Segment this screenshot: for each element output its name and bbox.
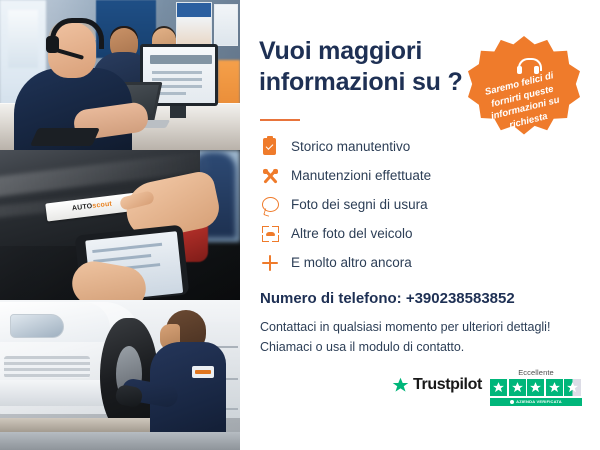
uniform-logo-badge (192, 366, 214, 378)
headset-earcup-left (517, 66, 522, 74)
star-rating (490, 379, 582, 396)
list-item[interactable]: Altre foto del veicolo (260, 219, 580, 248)
page-title: Vuoi maggiori informazioni su ? (259, 36, 479, 98)
sticker-brandmark: AUTOscout (72, 201, 113, 213)
contact-line-one: Contattaci in qualsiasi momento per ulte… (260, 317, 580, 337)
desk-tablet (30, 128, 100, 146)
list-item[interactable]: Manutenzioni effettuate (260, 161, 580, 190)
photo-frame-car-icon (260, 223, 286, 245)
contact-instructions: Contattaci in qualsiasi momento per ulte… (260, 317, 580, 357)
wall-poster-secondary (214, 4, 238, 46)
star-tile (546, 379, 563, 396)
feature-label: E molto altro ancora (286, 255, 412, 270)
photo-column: AUTOscout (0, 0, 240, 450)
trustpilot-rating: Eccellente (490, 368, 582, 406)
wall-poster (176, 2, 212, 50)
feature-label: Storico manutentivo (286, 139, 410, 154)
trustpilot-star-icon (392, 377, 409, 394)
clipboard-check-icon (260, 136, 286, 158)
phone-number[interactable]: Numero di telefono: +390238583852 (260, 290, 515, 307)
star-tile (490, 379, 507, 396)
crossed-tools-icon (260, 165, 286, 187)
garage-floor (0, 432, 240, 450)
list-item[interactable]: Foto dei segni di usura (260, 190, 580, 219)
trustpilot-logo: Trustpilot (392, 376, 482, 394)
monitor-stand (170, 106, 186, 118)
verified-check-icon (510, 400, 514, 404)
list-item[interactable]: Storico manutentivo (260, 132, 580, 161)
rating-label: Eccellente (490, 368, 582, 377)
trustpilot-wordmark: Trustpilot (413, 376, 482, 394)
star-tile-half (564, 379, 581, 396)
plus-icon (260, 252, 286, 274)
title-divider (260, 119, 300, 121)
list-item[interactable]: E molto altro ancora (260, 248, 580, 277)
car-grille (4, 356, 90, 378)
feature-label: Altre foto del veicolo (286, 226, 413, 241)
contact-line-two: Chiamaci o usa il modulo di contatto. (260, 337, 580, 357)
monitor-text-row (152, 78, 202, 81)
feature-label: Manutenzioni effettuate (286, 168, 431, 183)
speech-bubble-icon (260, 194, 286, 216)
call-center-agents-photo (0, 0, 240, 150)
mechanic-wheel-photo (0, 300, 240, 450)
verified-label: AZIENDA VERIFICATA (516, 399, 562, 404)
trustpilot-badge[interactable]: Trustpilot Eccellente (392, 368, 590, 414)
vehicle-label-tablet-photo: AUTOscout (0, 150, 240, 300)
tablet-text-row (92, 243, 162, 253)
monitor-toolbar (150, 55, 212, 64)
star-tile (509, 379, 526, 396)
star-tile (527, 379, 544, 396)
advert-page: AUTOscout (0, 0, 600, 450)
headset-icon (518, 58, 538, 74)
feature-list: Storico manutentivo Manutenzioni effettu… (260, 132, 580, 277)
verified-company-bar: AZIENDA VERIFICATA (490, 398, 582, 406)
feature-label: Foto dei segni di usura (286, 197, 428, 212)
car-headlight (10, 314, 64, 338)
info-panel: Vuoi maggiori informazioni su ? Saremo f… (240, 0, 600, 450)
monitor-text-row (152, 71, 202, 74)
